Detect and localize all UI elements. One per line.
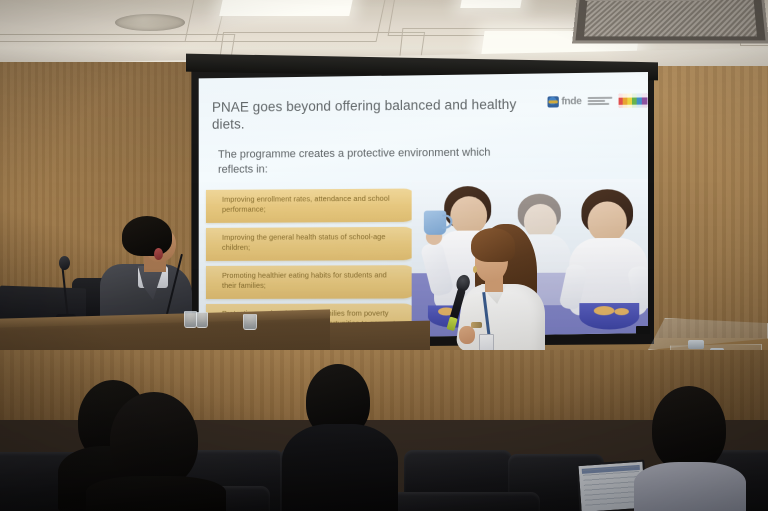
head-silhouette	[652, 386, 726, 472]
audience-member-4	[636, 386, 740, 511]
body-silhouette	[282, 424, 398, 511]
wristwatch	[471, 322, 482, 328]
slide-bullet-text: Promoting healthier eating habits for st…	[222, 270, 399, 291]
screen-content-lines	[583, 466, 642, 508]
fnde-emblem-icon	[548, 96, 559, 107]
bowl	[579, 303, 639, 330]
projection-screen: fnde PNAE goes beyond offering balanced …	[196, 72, 648, 340]
hair-front	[471, 228, 515, 262]
slide-child-eating	[559, 189, 648, 340]
table-microphone[interactable]	[155, 250, 235, 320]
air-conditioner-vent	[572, 0, 768, 43]
slide-title: PNAE goes beyond offering balanced and h…	[212, 96, 546, 133]
bowl-food	[614, 308, 628, 315]
body-silhouette	[86, 476, 226, 511]
body-light-shirt	[634, 462, 746, 511]
microphone-tip	[446, 316, 457, 331]
ceiling-light-panel	[219, 0, 355, 16]
child-face	[588, 201, 627, 242]
vent-louver	[585, 0, 705, 1]
fnde-logo-label: fnde	[561, 96, 581, 107]
mug	[424, 211, 446, 235]
earring	[473, 266, 477, 273]
slide-bullet-text: Improving the general health status of s…	[222, 232, 399, 254]
slide-bullet-pill: Improving enrollment rates, attendance a…	[206, 188, 420, 222]
pnae-colors-logo	[619, 93, 648, 108]
presentation-photo-scene: fnde PNAE goes beyond offering balanced …	[0, 0, 768, 511]
microphone-capsule	[154, 248, 163, 260]
microphone-capsule	[59, 256, 70, 270]
gooseneck-microphone[interactable]	[52, 256, 78, 318]
audience-member-3	[288, 364, 388, 511]
logo-line	[588, 103, 609, 105]
vent-grille	[584, 0, 757, 36]
slide-subtitle: The programme creates a protective envir…	[218, 145, 522, 178]
slide-bullet-pill: Improving the general health status of s…	[206, 227, 420, 261]
audience-member-2	[96, 392, 212, 511]
slide-bullet-text: Improving enrollment rates, attendance a…	[222, 194, 399, 216]
logo-line	[588, 97, 613, 99]
fnde-logo: fnde	[548, 96, 581, 107]
water-glass	[196, 312, 208, 328]
slide-logo-group: fnde	[548, 93, 647, 108]
lectern-bracket	[688, 340, 704, 349]
microphone-stem	[165, 254, 183, 319]
ceiling-speaker	[115, 14, 185, 31]
bowl-food	[594, 306, 615, 315]
hand	[459, 326, 475, 344]
head-silhouette	[110, 392, 198, 488]
logo-line	[588, 100, 606, 102]
slide-bullet-pill: Promoting healthier eating habits for st…	[206, 265, 420, 299]
water-glass	[243, 314, 257, 330]
ceiling-light-panel	[460, 0, 524, 8]
microphone-stem	[61, 264, 69, 318]
government-logo	[588, 96, 613, 106]
